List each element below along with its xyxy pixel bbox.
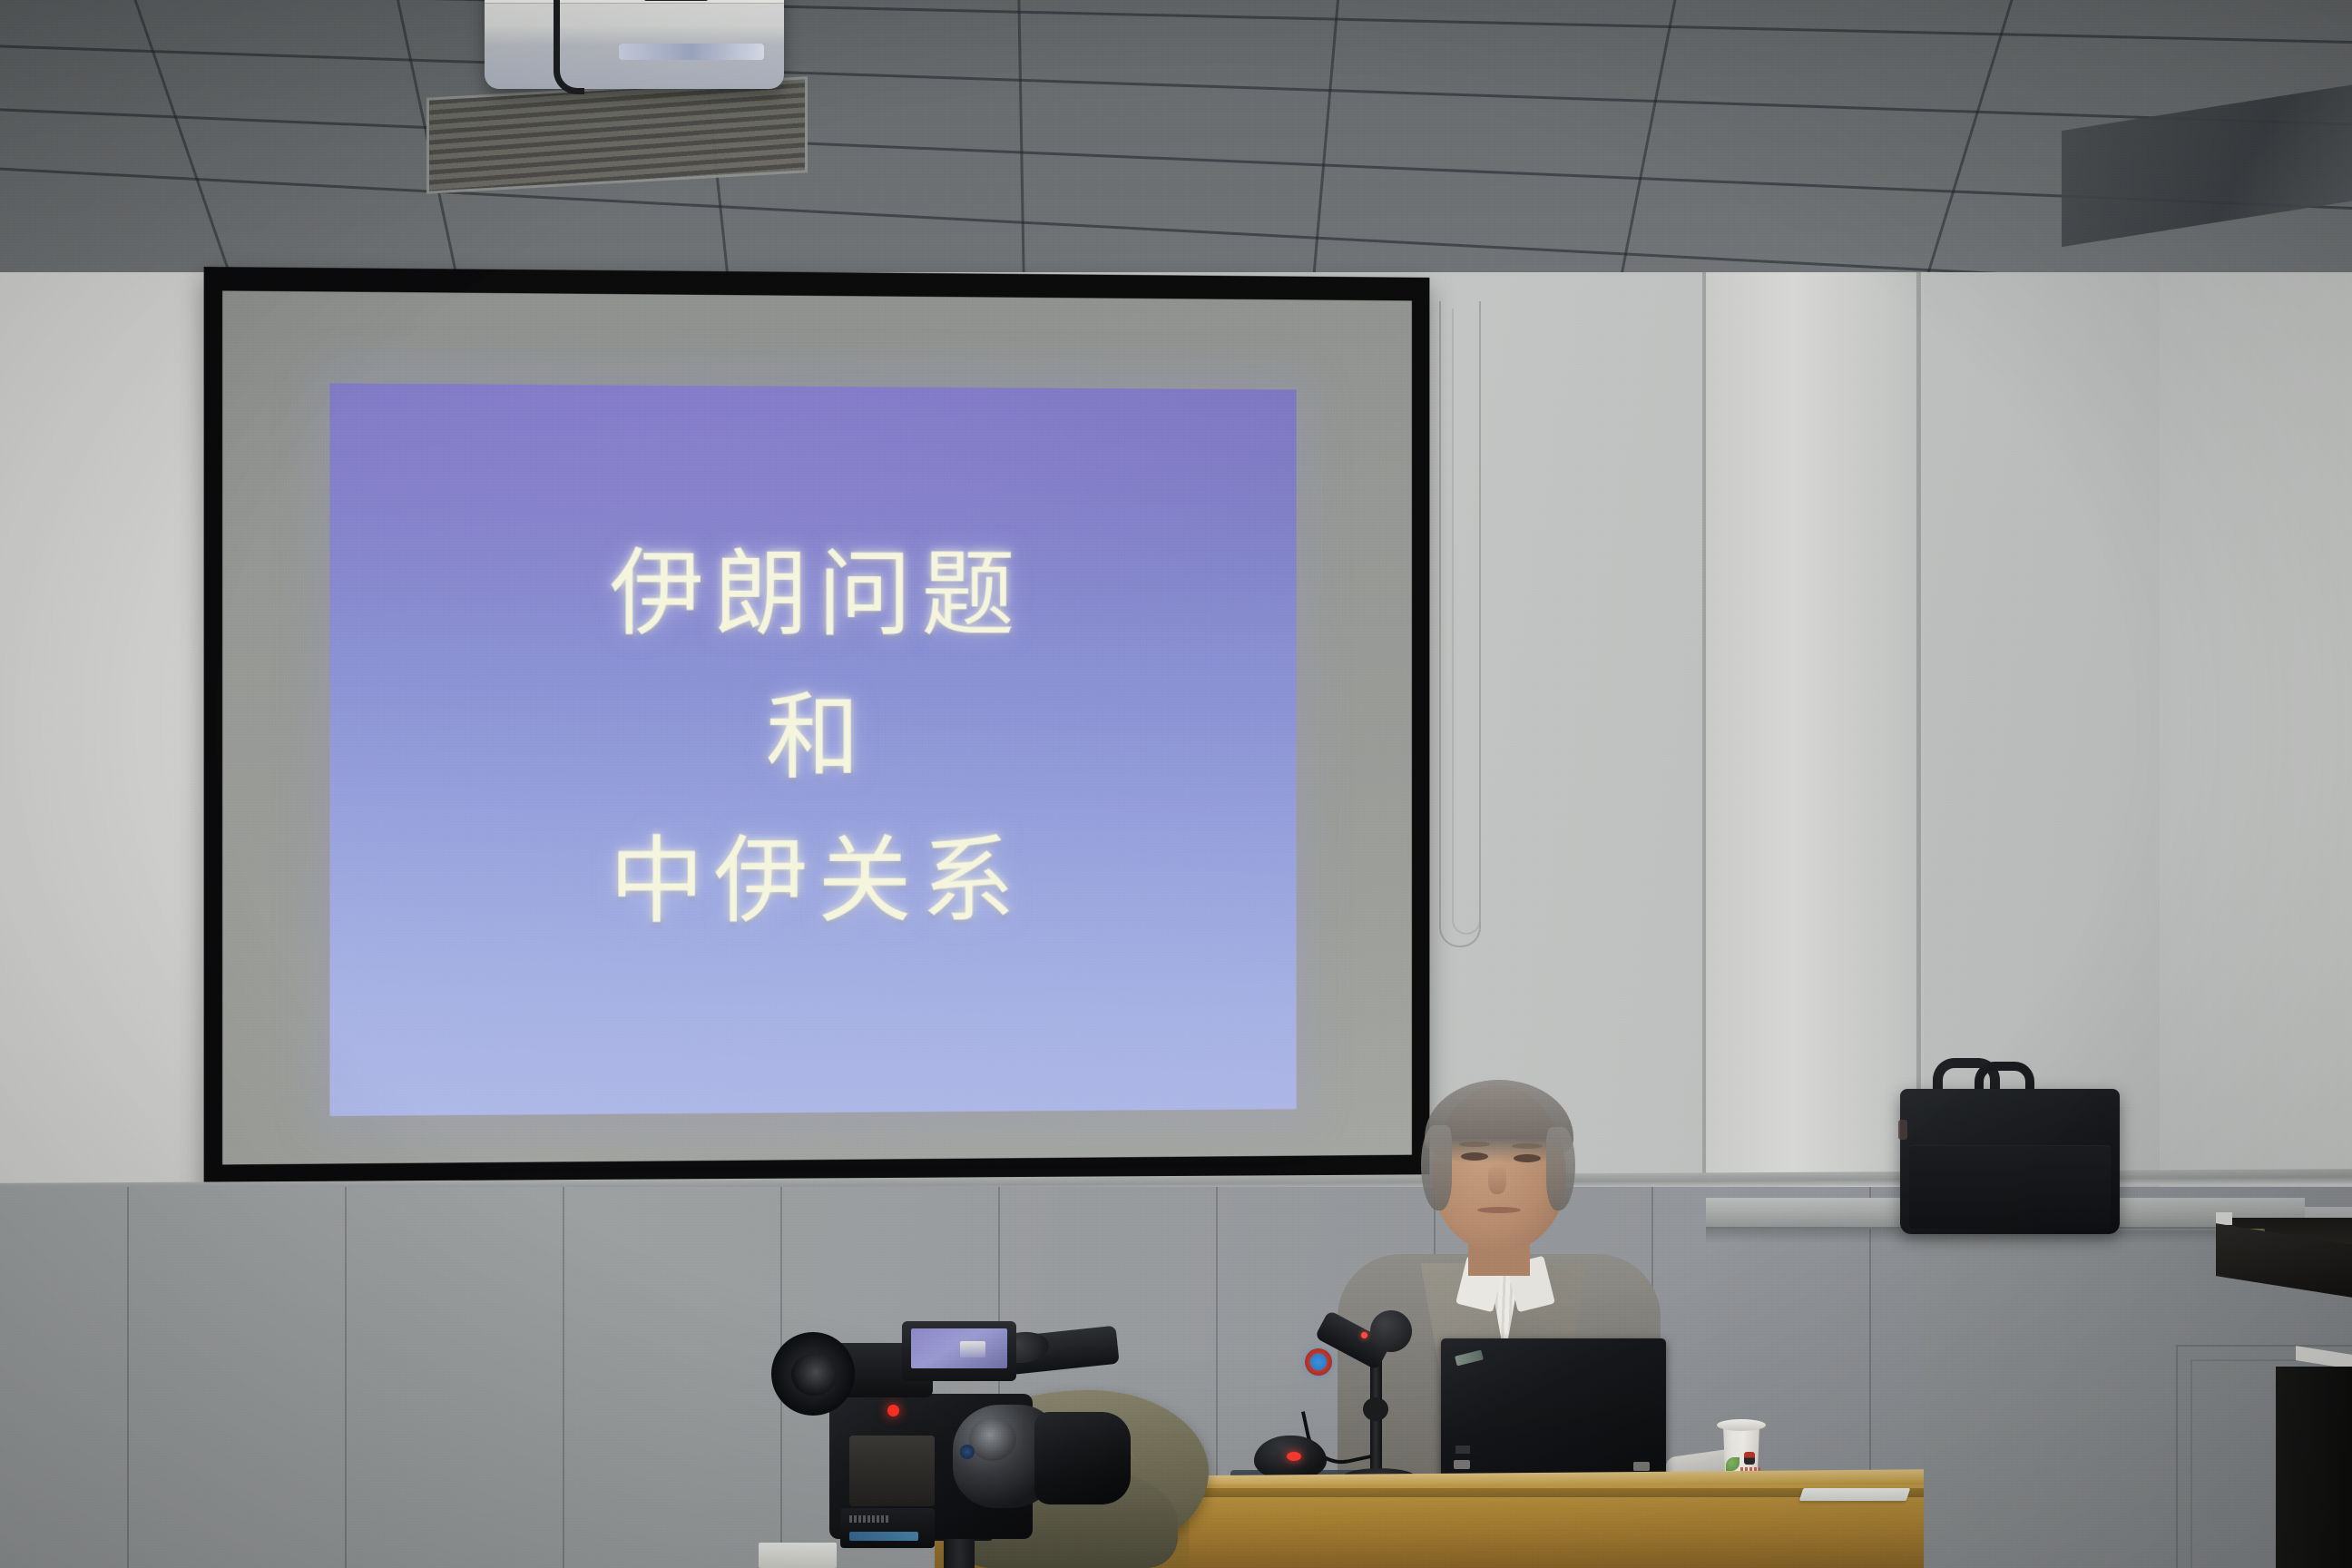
wall-column-edge-left bbox=[1702, 272, 1706, 1189]
far-right-wall bbox=[2160, 272, 2352, 1234]
laptop-bag[interactable] bbox=[1900, 1089, 2120, 1234]
video-camcorder[interactable] bbox=[762, 1303, 1152, 1568]
speaker-hair-right bbox=[1546, 1127, 1575, 1210]
eyebrow-left bbox=[1459, 1142, 1490, 1147]
laptop-logo-icon bbox=[1455, 1350, 1484, 1367]
camcorder-cassette-door[interactable] bbox=[840, 1508, 935, 1548]
camcorder-grip-ring-icon bbox=[969, 1417, 1016, 1461]
laptop-screen-lid[interactable] bbox=[1441, 1338, 1666, 1485]
side-lectern-body bbox=[2276, 1367, 2352, 1568]
screen-pull-cord-secondary[interactable] bbox=[1452, 309, 1481, 935]
speaker-hair-left bbox=[1421, 1125, 1452, 1210]
camcorder-lcd-panel[interactable] bbox=[902, 1321, 1016, 1381]
slide-line-title: 伊朗问题 bbox=[609, 522, 1024, 666]
camcorder-lens-hood bbox=[1034, 1412, 1131, 1504]
mouth bbox=[1477, 1207, 1521, 1213]
paper-cup-rim bbox=[1717, 1419, 1766, 1431]
cup-logo-icon bbox=[1744, 1452, 1755, 1465]
projector-cable bbox=[554, 0, 584, 94]
slide-text-block: 伊朗问题 和 中伊关系 bbox=[329, 383, 1296, 1116]
recessed-ceiling-panel bbox=[2062, 83, 2352, 247]
nose bbox=[1488, 1163, 1506, 1194]
camera-base-plate bbox=[759, 1543, 837, 1568]
camcorder-lcd-screen bbox=[911, 1328, 1007, 1368]
camcorder-grip-button-icon bbox=[960, 1445, 975, 1459]
microphone-joint[interactable] bbox=[1363, 1397, 1388, 1421]
eyebrow-right bbox=[1512, 1143, 1543, 1149]
bag-zipper-icon bbox=[1898, 1120, 1907, 1140]
paper-sheet[interactable] bbox=[1799, 1488, 1911, 1501]
slide-line-subject: 中伊关系 bbox=[609, 809, 1024, 954]
camcorder-cassette-strip bbox=[849, 1532, 918, 1541]
laptop-foot-left bbox=[1454, 1460, 1470, 1469]
suspended-ceiling bbox=[0, 0, 2352, 283]
screen-surface: 伊朗问题 和 中伊关系 bbox=[222, 290, 1412, 1164]
wall-column-edge-right bbox=[1916, 272, 1921, 1189]
laptop-foot-right bbox=[1633, 1462, 1650, 1471]
slide-line-conjunction: 和 bbox=[766, 666, 869, 809]
wall-column bbox=[1706, 272, 1924, 1189]
lecture-hall-photo: 伊朗问题 和 中伊关系 bbox=[0, 0, 2352, 1568]
mouse-led-indicator bbox=[1287, 1452, 1301, 1461]
eye-right bbox=[1514, 1154, 1541, 1162]
camcorder-brand-mark bbox=[849, 1515, 889, 1523]
microphone-led-indicator bbox=[1361, 1332, 1367, 1338]
laptop-vent-icon bbox=[1455, 1445, 1470, 1454]
projection-screen: 伊朗问题 和 中伊关系 bbox=[204, 267, 1430, 1194]
camcorder-tally-light bbox=[887, 1405, 899, 1416]
eye-left bbox=[1461, 1152, 1488, 1161]
camcorder-control-panel[interactable] bbox=[849, 1436, 935, 1506]
microphone-head-icon bbox=[1370, 1310, 1412, 1352]
ceiling-projector bbox=[485, 0, 784, 89]
projected-slide: 伊朗问题 和 中伊关系 bbox=[329, 383, 1296, 1116]
camcorder-eyecup-icon bbox=[771, 1332, 855, 1416]
